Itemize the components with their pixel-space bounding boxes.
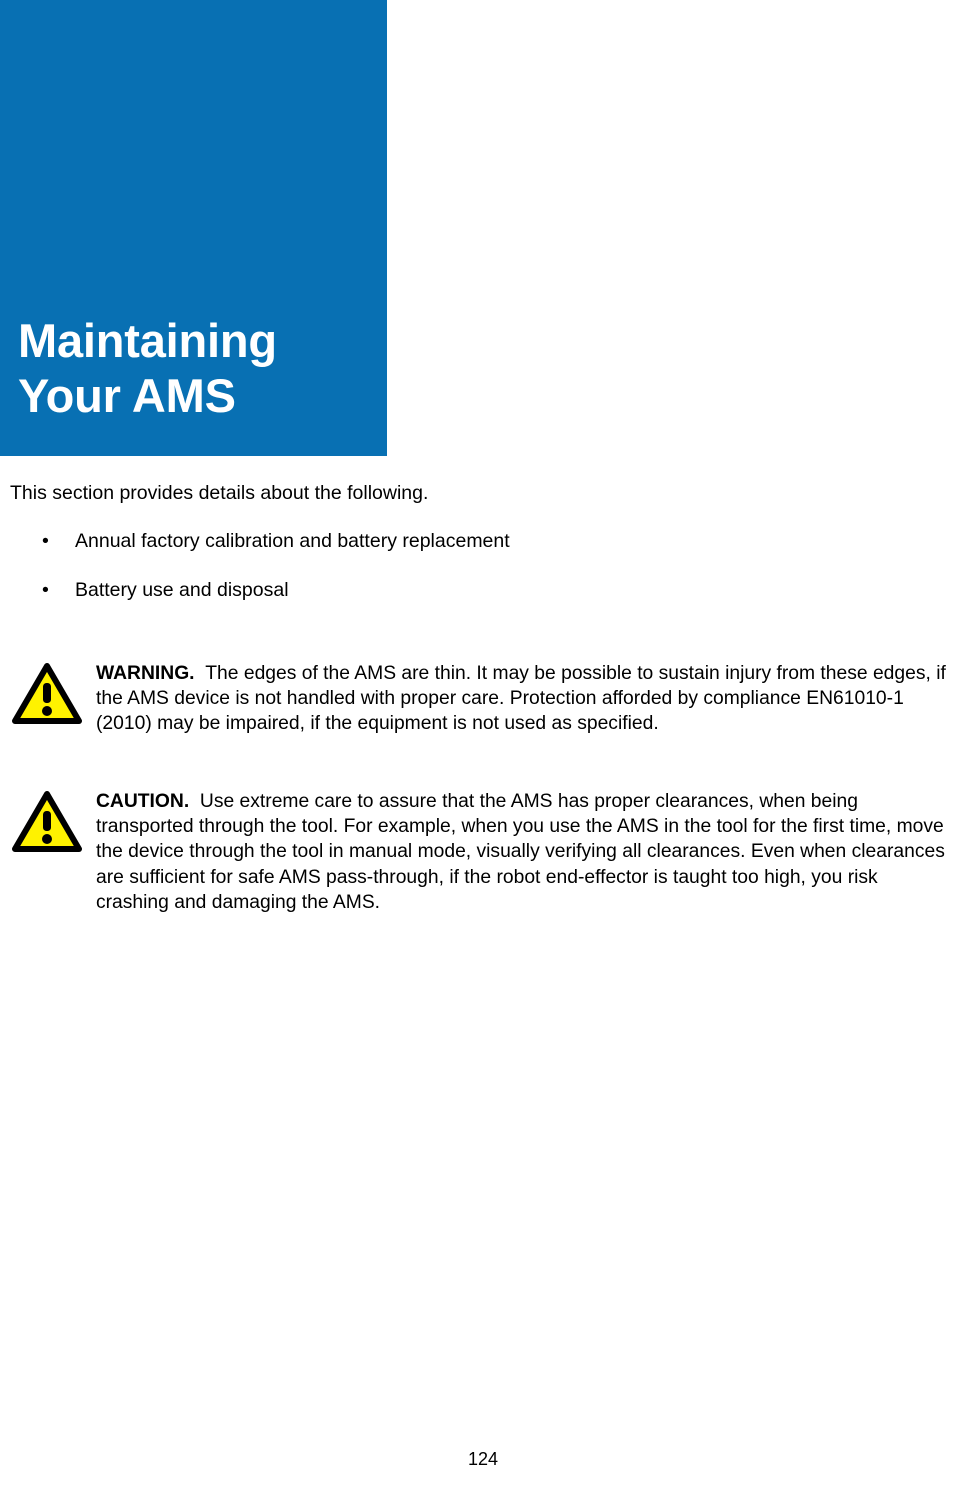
caution-triangle-icon bbox=[12, 791, 82, 853]
warning-label: WARNING. bbox=[96, 663, 205, 684]
warning-triangle-icon bbox=[12, 663, 82, 725]
bullet-list: • Annual factory calibration and battery… bbox=[0, 528, 966, 603]
warning-admonition: WARNING.The edges of the AMS are thin. I… bbox=[0, 661, 966, 737]
warning-text: WARNING.The edges of the AMS are thin. I… bbox=[96, 661, 950, 737]
chapter-banner: Maintaining Your AMS bbox=[0, 0, 387, 456]
chapter-title-line-2: Your AMS bbox=[18, 369, 387, 424]
list-item-label: Battery use and disposal bbox=[75, 579, 289, 601]
caution-admonition: CAUTION.Use extreme care to assure that … bbox=[0, 789, 966, 915]
list-item-label: Annual factory calibration and battery r… bbox=[75, 530, 510, 552]
intro-paragraph: This section provides details about the … bbox=[10, 480, 966, 506]
caution-label: CAUTION. bbox=[96, 791, 200, 812]
chapter-title-line-1: Maintaining bbox=[18, 314, 387, 369]
page-content: This section provides details about the … bbox=[0, 456, 966, 915]
bullet-dot-icon: • bbox=[42, 577, 49, 603]
list-item: • Battery use and disposal bbox=[0, 577, 966, 603]
bullet-dot-icon: • bbox=[42, 528, 49, 554]
caution-body: Use extreme care to assure that the AMS … bbox=[96, 791, 945, 913]
list-item: • Annual factory calibration and battery… bbox=[0, 528, 966, 554]
warning-body: The edges of the AMS are thin. It may be… bbox=[96, 663, 946, 735]
caution-text: CAUTION.Use extreme care to assure that … bbox=[96, 789, 950, 915]
page-number: 124 bbox=[0, 1449, 966, 1470]
